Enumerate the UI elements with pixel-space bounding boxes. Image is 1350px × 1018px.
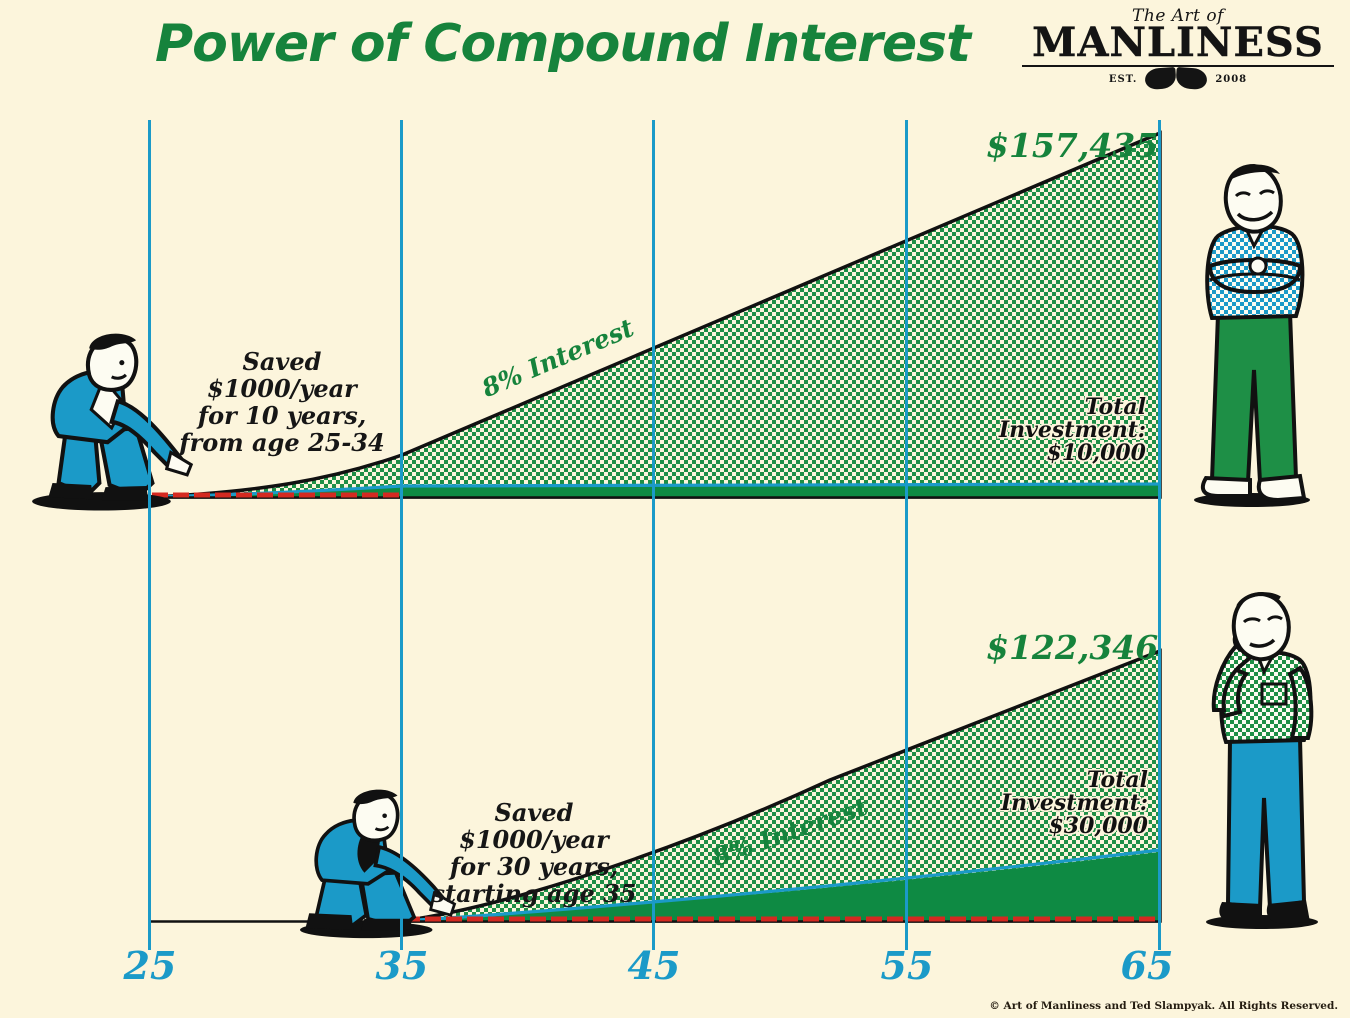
page-title: Power of Compound Interest — [155, 14, 970, 74]
gridline-age-35 — [400, 120, 403, 950]
axis-tick-65: 65 — [1121, 943, 1174, 988]
logo-wordmark: MANLINESS — [1022, 23, 1334, 63]
interest-label-late-saver: 8% Interest — [709, 792, 872, 872]
annotation-late-saver: Saved $1000/year for 30 years, starting … — [418, 800, 650, 908]
gridline-age-55 — [905, 120, 908, 950]
figure-standing-man-hand-on-chin — [1206, 594, 1318, 929]
axis-tick-45: 45 — [628, 943, 681, 988]
art-of-manliness-logo: The Art of MANLINESS EST. 2008 — [1022, 8, 1334, 86]
gridline-age-65 — [1158, 120, 1161, 950]
logo-est-label: EST. — [1109, 74, 1137, 85]
axis-tick-25: 25 — [124, 943, 177, 988]
logo-year-label: 2008 — [1215, 74, 1247, 85]
annotation-early-saver: Saved $1000/year for 10 years, from age … — [167, 349, 397, 457]
gridline-age-45 — [652, 120, 655, 950]
figure-standing-man-arms-crossed — [1194, 165, 1310, 507]
total-investment-late-saver: Total Investment: $30,000 — [948, 769, 1148, 838]
investment-band-edge-early — [150, 484, 1160, 497]
mustache-icon — [1145, 68, 1207, 90]
total-investment-early-saver: Total Investment: $10,000 — [930, 396, 1146, 465]
investment-band-early — [150, 485, 1160, 497]
final-value-early-saver: $157,435 — [986, 126, 1158, 165]
axis-tick-55: 55 — [881, 943, 934, 988]
final-value-late-saver: $122,346 — [986, 628, 1158, 667]
gridline-age-25 — [148, 120, 151, 950]
infographic-canvas: Power of Compound Interest The Art of MA… — [0, 0, 1350, 1018]
logo-footer: EST. 2008 — [1022, 68, 1334, 90]
axis-tick-35: 35 — [376, 943, 429, 988]
interest-label-early-saver: 8% Interest — [478, 313, 638, 403]
copyright-notice: © Art of Manliness and Ted Slampyak. All… — [989, 1000, 1338, 1012]
